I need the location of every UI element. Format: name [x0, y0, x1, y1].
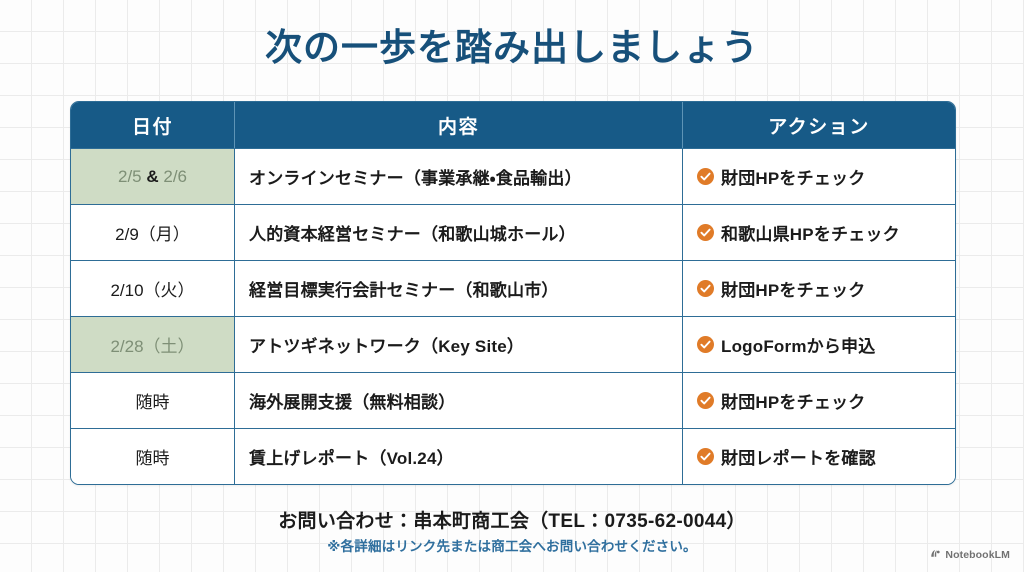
- cell-content: アトツギネットワーク（Key Site）: [235, 316, 683, 372]
- check-circle-icon: [697, 168, 714, 185]
- table-header: 日付 内容 アクション: [71, 102, 955, 148]
- page-title: 次の一歩を踏み出しましょう: [0, 26, 1024, 70]
- date-ampersand: &: [146, 167, 158, 186]
- date-label: 2/28（土）: [110, 337, 194, 356]
- footer-contact: お問い合わせ：串本町商工会（TEL：0735-62-0044）: [0, 506, 1024, 533]
- action-label: LogoFormから申込: [721, 332, 875, 357]
- schedule-table: 日付 内容 アクション 2/5 & 2/6 オンラインセミナー（事業承継・食品輸…: [70, 101, 956, 485]
- date-part-second: 2/6: [163, 167, 187, 186]
- column-header-action: アクション: [683, 102, 955, 148]
- schedule-table-container: 日付 内容 アクション 2/5 & 2/6 オンラインセミナー（事業承継・食品輸…: [70, 101, 954, 485]
- cell-content: 経営目標実行会計セミナー（和歌山市）: [235, 260, 683, 316]
- check-circle-icon: [697, 448, 714, 465]
- action-label: 財団HPをチェック: [721, 276, 865, 301]
- column-header-date: 日付: [71, 102, 235, 148]
- action-label: 財団HPをチェック: [721, 388, 865, 413]
- table-row: 2/10（火） 経営目標実行会計セミナー（和歌山市） 財団HPをチェック: [71, 260, 955, 316]
- cell-action[interactable]: 和歌山県HPをチェック: [683, 204, 955, 260]
- cell-action[interactable]: LogoFormから申込: [683, 316, 955, 372]
- slide-canvas: 次の一歩を踏み出しましょう 日付 内容 アクション 2/5 &: [0, 0, 1024, 572]
- cell-action[interactable]: 財団HPをチェック: [683, 148, 955, 204]
- cell-action[interactable]: 財団レポートを確認: [683, 428, 955, 484]
- cell-date: 2/28（土）: [71, 316, 235, 372]
- action-label: 和歌山県HPをチェック: [721, 220, 900, 245]
- cell-date: 随時: [71, 428, 235, 484]
- notebooklm-label: NotebookLM: [945, 549, 1010, 561]
- cell-action[interactable]: 財団HPをチェック: [683, 372, 955, 428]
- cell-date: 随時: [71, 372, 235, 428]
- check-circle-icon: [697, 336, 714, 353]
- check-circle-icon: [697, 224, 714, 241]
- cell-content: 人的資本経営セミナー（和歌山城ホール）: [235, 204, 683, 260]
- table-row: 2/28（土） アトツギネットワーク（Key Site） LogoFormから: [71, 316, 955, 372]
- cell-action[interactable]: 財団HPをチェック: [683, 260, 955, 316]
- date-part-first: 2/5: [118, 167, 142, 186]
- table-row: 随時 海外展開支援（無料相談） 財団HPをチェック: [71, 372, 955, 428]
- cell-content: オンラインセミナー（事業承継・食品輸出）: [235, 148, 683, 204]
- cell-content: 海外展開支援（無料相談）: [235, 372, 683, 428]
- notebooklm-watermark: NotebookLM: [930, 546, 1010, 564]
- cell-date: 2/5 & 2/6: [71, 148, 235, 204]
- action-label: 財団レポートを確認: [721, 444, 876, 469]
- notebooklm-icon: [930, 546, 941, 564]
- cell-date: 2/9（月）: [71, 204, 235, 260]
- check-circle-icon: [697, 280, 714, 297]
- cell-date: 2/10（火）: [71, 260, 235, 316]
- action-label: 財団HPをチェック: [721, 164, 865, 189]
- table-header-row: 日付 内容 アクション: [71, 102, 955, 148]
- table-row: 2/9（月） 人的資本経営セミナー（和歌山城ホール） 和歌山県HPをチェック: [71, 204, 955, 260]
- table-body: 2/5 & 2/6 オンラインセミナー（事業承継・食品輸出）: [71, 148, 955, 484]
- column-header-content: 内容: [235, 102, 683, 148]
- footer-note: ※各詳細はリンク先または商工会へお問い合わせください。: [0, 535, 1024, 555]
- check-circle-icon: [697, 392, 714, 409]
- table-row: 2/5 & 2/6 オンラインセミナー（事業承継・食品輸出）: [71, 148, 955, 204]
- cell-content: 賃上げレポート（Vol.24）: [235, 428, 683, 484]
- table-row: 随時 賃上げレポート（Vol.24） 財団レポートを確認: [71, 428, 955, 484]
